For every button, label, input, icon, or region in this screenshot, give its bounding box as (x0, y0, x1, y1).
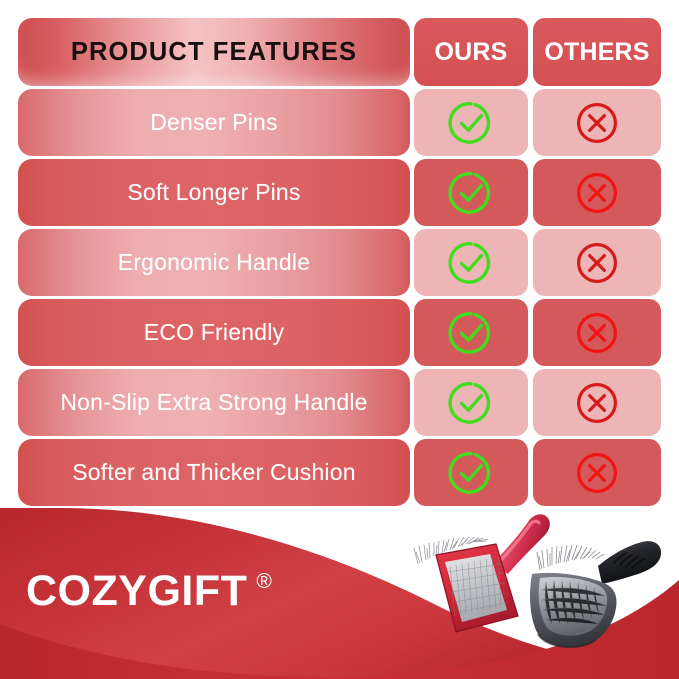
product-comparison-table: PRODUCT FEATURES OURS OTHERS Denser Pins (0, 0, 679, 512)
check-circle-icon (447, 239, 495, 287)
others-cell (533, 89, 661, 156)
feature-label: Non-Slip Extra Strong Handle (60, 389, 367, 416)
feature-cell: Softer and Thicker Cushion (18, 439, 410, 506)
header-cell-ours: OURS (414, 18, 528, 86)
page-title: PRODUCT FEATURES (71, 38, 357, 67)
cross-circle-icon (574, 380, 620, 426)
brand-name: COZYGIFT (26, 570, 247, 613)
column-header-ours-label: OURS (434, 38, 507, 67)
feature-cell: Non-Slip Extra Strong Handle (18, 369, 410, 436)
ours-cell (414, 369, 528, 436)
ours-cell (414, 89, 528, 156)
feature-cell: ECO Friendly (18, 299, 410, 366)
ours-cell (414, 229, 528, 296)
table-row: Ergonomic Handle (0, 229, 679, 296)
table-row: Soft Longer Pins (0, 159, 679, 226)
table-row: Softer and Thicker Cushion (0, 439, 679, 506)
feature-label: ECO Friendly (144, 319, 284, 346)
cross-circle-icon (574, 310, 620, 356)
table-row: Non-Slip Extra Strong Handle (0, 369, 679, 436)
feature-cell: Soft Longer Pins (18, 159, 410, 226)
registered-trademark-symbol: ® (256, 571, 271, 592)
check-circle-icon (447, 169, 495, 217)
check-circle-icon (447, 379, 495, 427)
others-cell (533, 159, 661, 226)
cross-circle-icon (574, 450, 620, 496)
product-photo-group (400, 508, 679, 668)
brand-logo: COZYGIFT ® (26, 570, 272, 613)
feature-cell: Denser Pins (18, 89, 410, 156)
check-circle-icon (447, 449, 495, 497)
red-slicker-brush-image (414, 514, 550, 632)
feature-label: Ergonomic Handle (118, 249, 310, 276)
header-cell-product-features: PRODUCT FEATURES (18, 18, 410, 86)
ours-cell (414, 299, 528, 366)
others-cell (533, 229, 661, 296)
check-circle-icon (447, 99, 495, 147)
column-header-others-label: OTHERS (544, 38, 649, 67)
table-header-row: PRODUCT FEATURES OURS OTHERS (0, 18, 679, 86)
cross-circle-icon (574, 240, 620, 286)
table-row: Denser Pins (0, 89, 679, 156)
feature-label: Softer and Thicker Cushion (72, 459, 355, 486)
cross-circle-icon (574, 100, 620, 146)
others-cell (533, 299, 661, 366)
others-cell (533, 369, 661, 436)
table-row: ECO Friendly (0, 299, 679, 366)
check-circle-icon (447, 309, 495, 357)
cross-circle-icon (574, 170, 620, 216)
feature-label: Denser Pins (150, 109, 277, 136)
feature-label: Soft Longer Pins (127, 179, 300, 206)
feature-cell: Ergonomic Handle (18, 229, 410, 296)
header-cell-others: OTHERS (533, 18, 661, 86)
ours-cell (414, 439, 528, 506)
ours-cell (414, 159, 528, 226)
black-slicker-brush-image (530, 541, 661, 647)
others-cell (533, 439, 661, 506)
